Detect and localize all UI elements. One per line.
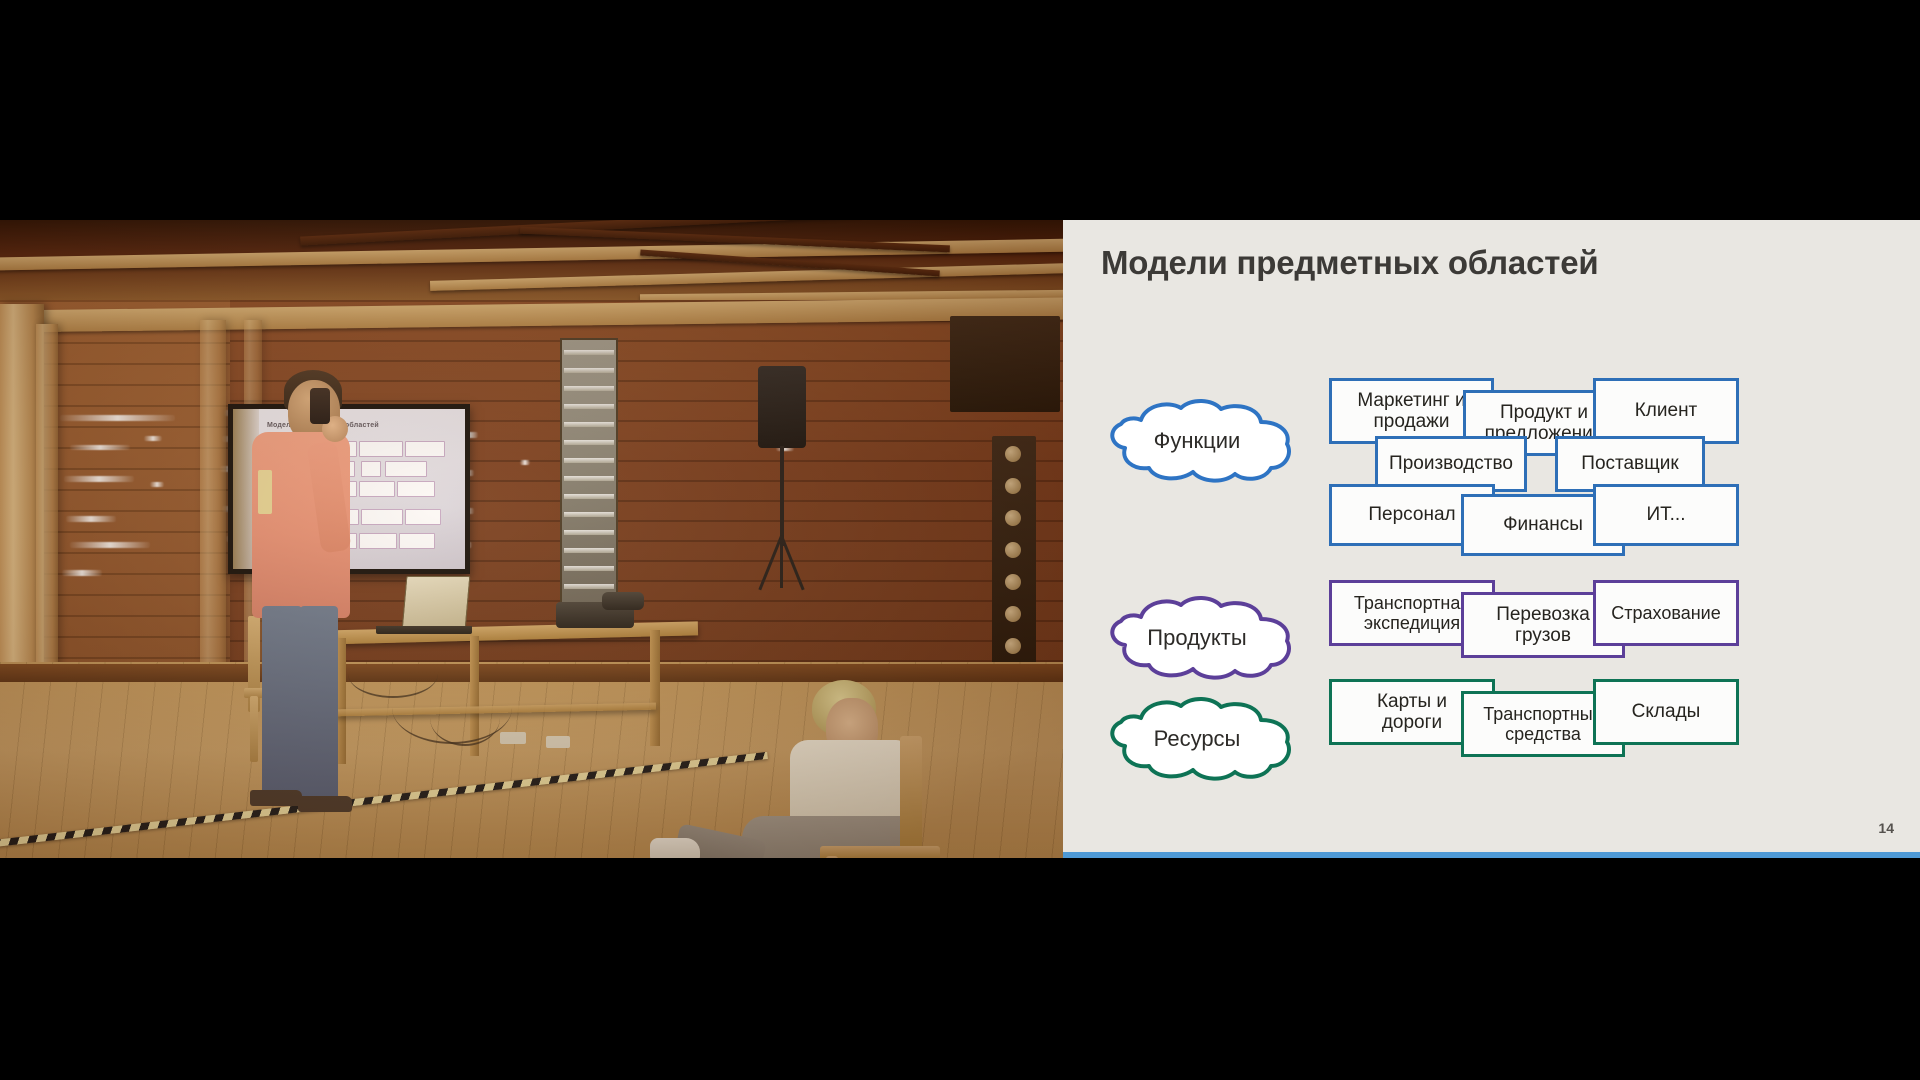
box-insurance[interactable]: Страхование bbox=[1593, 580, 1739, 646]
cable bbox=[430, 690, 500, 746]
window-panel bbox=[560, 338, 618, 628]
wall-light-slit bbox=[520, 460, 530, 465]
presenter-leg bbox=[300, 606, 338, 806]
microphone bbox=[310, 388, 330, 424]
wall-light-slit bbox=[70, 542, 150, 548]
screen-root: Модели предметных областей bbox=[0, 0, 1920, 1080]
presenter-shoe bbox=[250, 790, 302, 806]
presenter-shoe bbox=[298, 796, 352, 812]
wall-light-slit bbox=[62, 570, 102, 576]
projected-box bbox=[359, 533, 397, 549]
projected-box bbox=[399, 533, 435, 549]
cloud-products[interactable]: Продукты bbox=[1097, 595, 1297, 681]
video-pane[interactable]: Модели предметных областей bbox=[0, 220, 1063, 858]
audience-foot bbox=[650, 838, 700, 858]
projected-box bbox=[361, 461, 381, 477]
box-it[interactable]: ИТ... bbox=[1593, 484, 1739, 546]
audience-chair-leg bbox=[826, 856, 838, 858]
wall-light-slit bbox=[150, 482, 164, 487]
laptop-base bbox=[376, 626, 472, 634]
cloud-shape-icon bbox=[1097, 696, 1297, 782]
projected-box bbox=[385, 461, 427, 477]
projected-box bbox=[361, 509, 403, 525]
box-warehouses[interactable]: Склады bbox=[1593, 679, 1739, 745]
wall-light-slit bbox=[70, 445, 130, 450]
laptop-screen bbox=[402, 576, 471, 630]
projected-box bbox=[359, 481, 395, 497]
slide-pane: Модели предметных областей Функции Марке… bbox=[1063, 220, 1920, 858]
slide-accent-rule bbox=[1063, 852, 1920, 858]
wall-light-slit bbox=[66, 516, 116, 522]
wooden-post bbox=[200, 320, 226, 720]
projected-box bbox=[405, 509, 441, 525]
audience-chair-seat bbox=[820, 846, 940, 858]
cloud-shape-icon bbox=[1097, 595, 1297, 681]
chair-leg bbox=[250, 696, 258, 762]
page-number: 14 bbox=[1878, 820, 1894, 836]
presenter-leg bbox=[262, 606, 302, 802]
presenter-badge bbox=[258, 470, 272, 514]
projected-box bbox=[359, 441, 403, 457]
page-title: Модели предметных областей bbox=[1101, 244, 1598, 282]
wall-light-slit bbox=[144, 436, 162, 441]
power-adapter bbox=[546, 736, 570, 748]
box-client[interactable]: Клиент bbox=[1593, 378, 1739, 444]
cloud-resources[interactable]: Ресурсы bbox=[1097, 696, 1297, 782]
baseboard bbox=[0, 664, 1063, 682]
power-adapter bbox=[500, 732, 526, 744]
wall-cabinet bbox=[950, 316, 1060, 412]
projected-box bbox=[397, 481, 435, 497]
speaker-stand-leg bbox=[780, 536, 783, 588]
projector-lens-housing bbox=[602, 592, 644, 610]
wall-light-slit bbox=[60, 415, 175, 421]
cloud-functions[interactable]: Функции bbox=[1097, 398, 1297, 484]
cloud-shape-icon bbox=[1097, 398, 1297, 484]
wall-light-slit bbox=[64, 476, 134, 482]
audience-chair-back bbox=[900, 736, 922, 858]
shelf-unit bbox=[992, 436, 1036, 692]
pa-speaker bbox=[758, 366, 806, 448]
table-leg bbox=[650, 630, 660, 746]
speaker-stand-pole bbox=[780, 446, 784, 546]
projected-box bbox=[405, 441, 445, 457]
